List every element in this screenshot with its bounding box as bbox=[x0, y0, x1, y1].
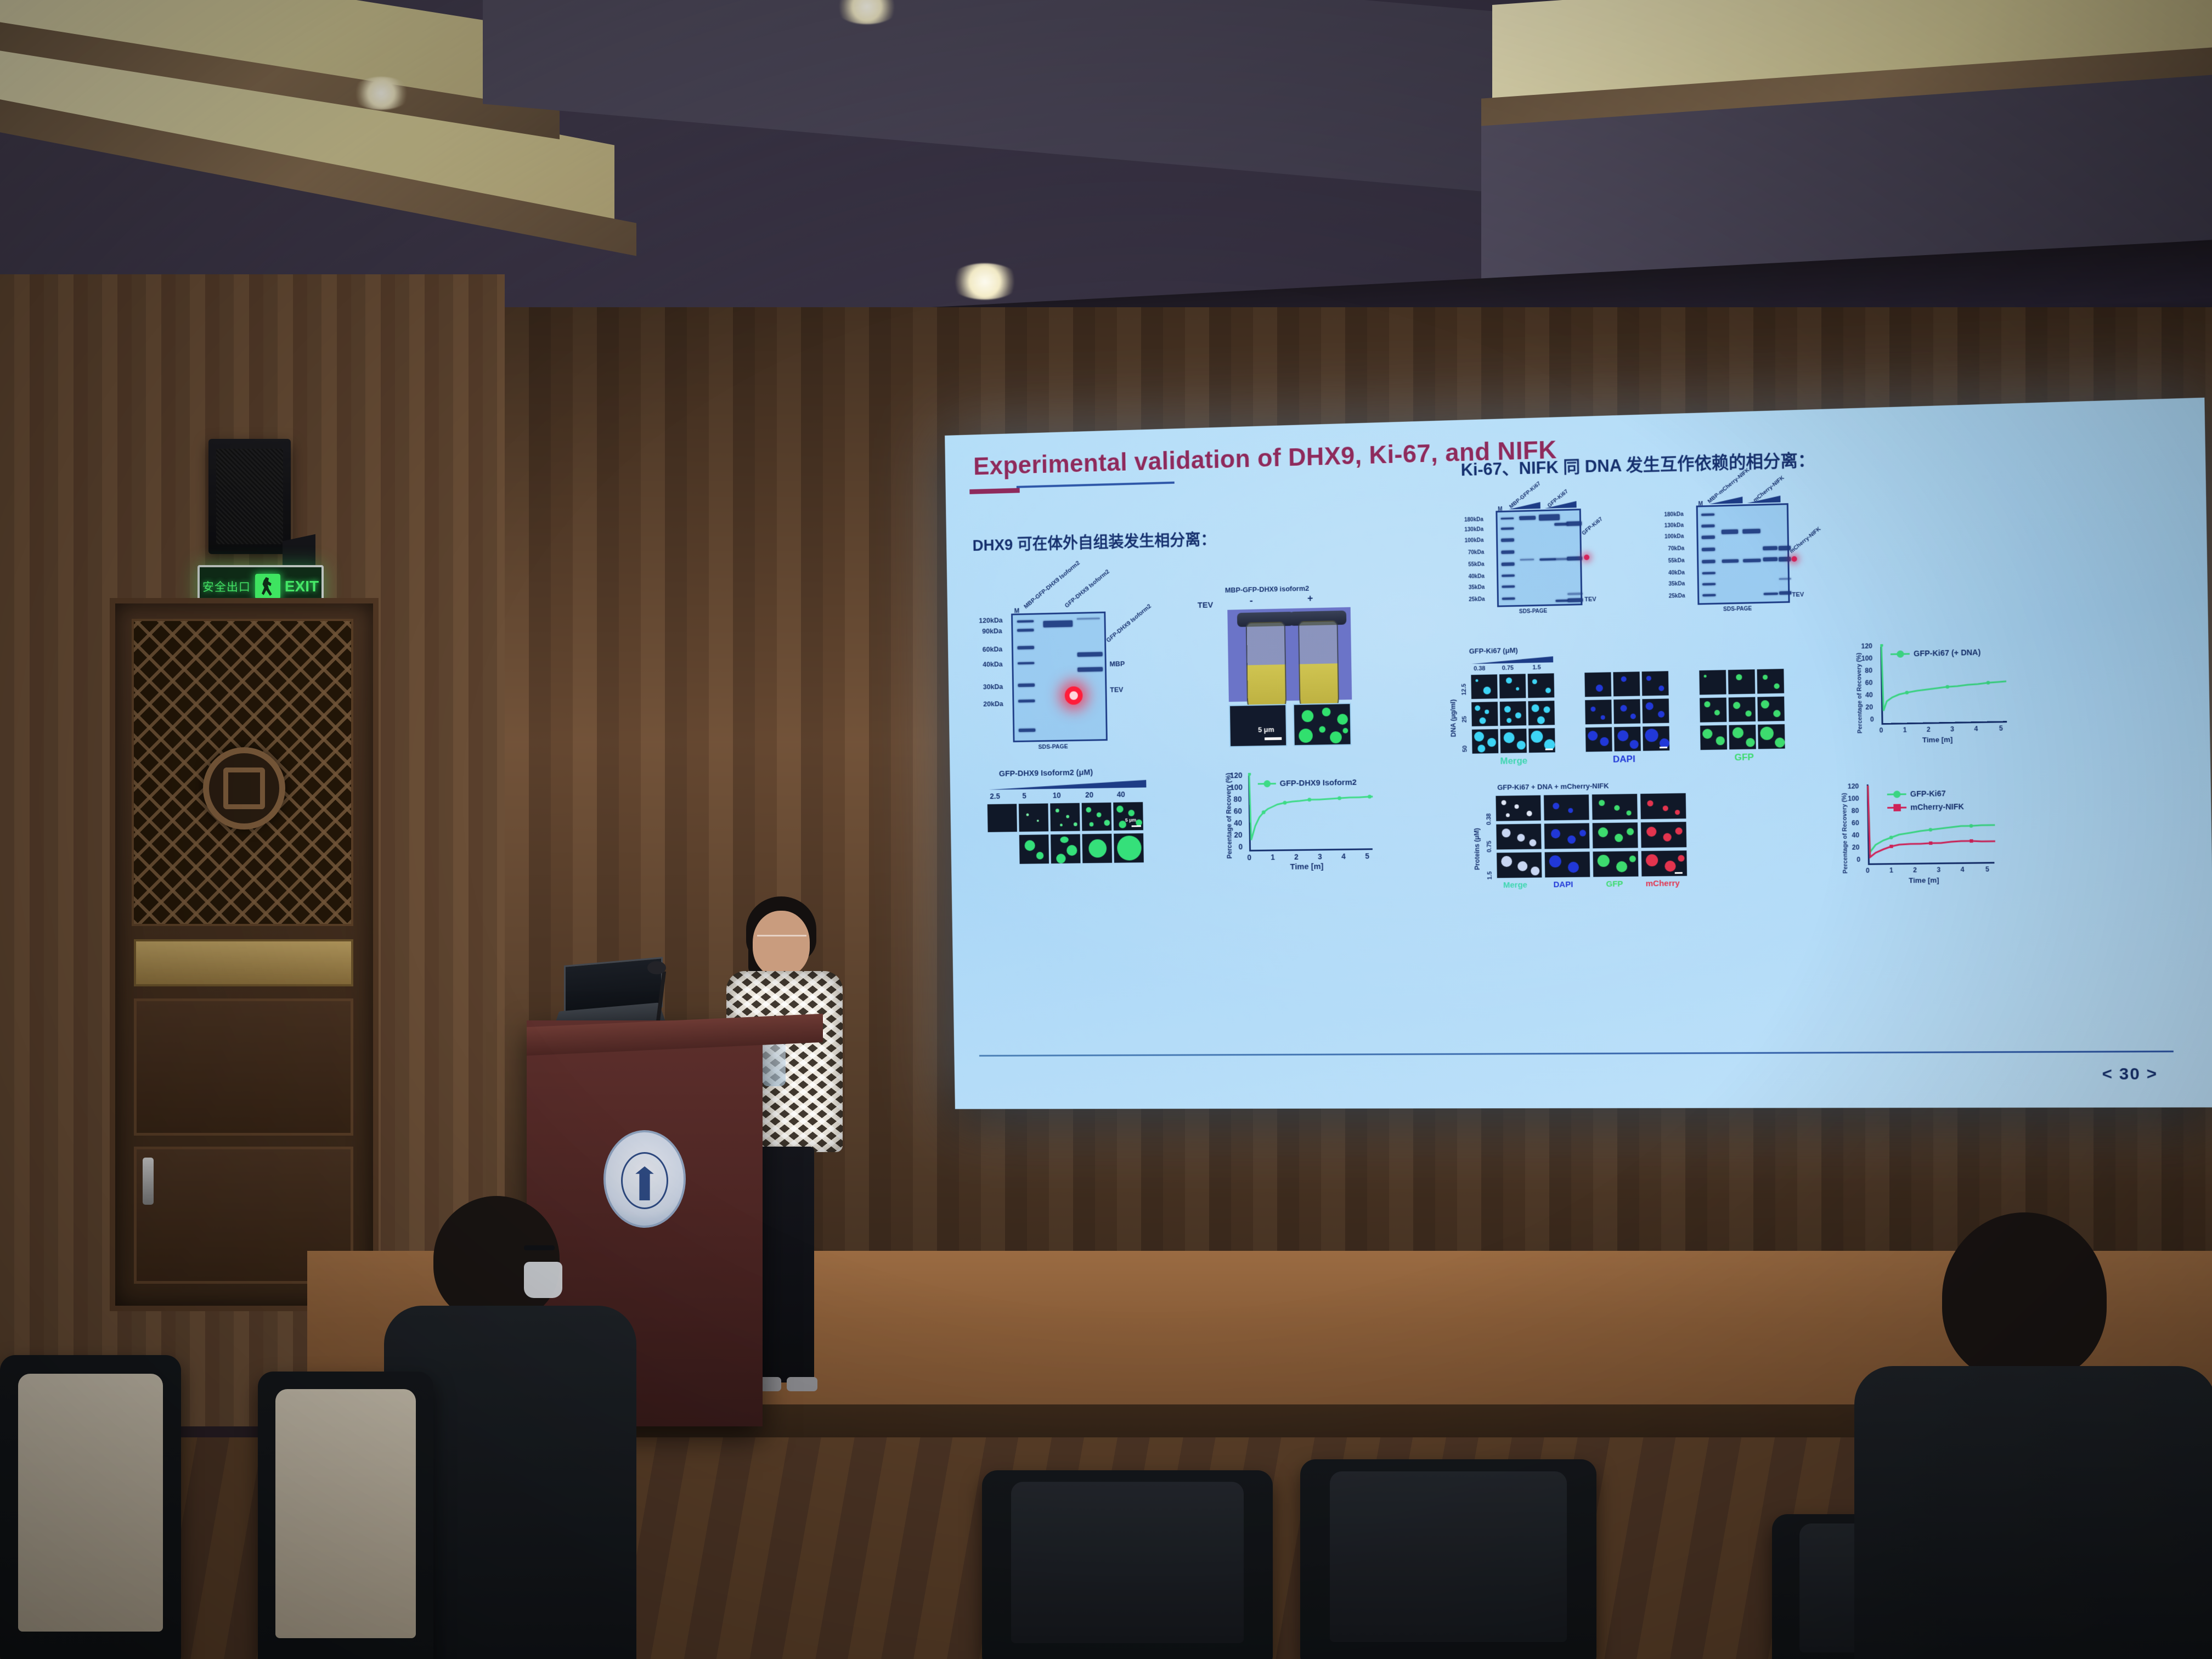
audience-face-mask bbox=[524, 1262, 562, 1298]
gel-nifk-ladder-180: 180kDa bbox=[1664, 511, 1683, 518]
frap-dhx9-ytick: 100 bbox=[1230, 783, 1243, 792]
grid-cell-dapi bbox=[1642, 726, 1670, 752]
legend-marker bbox=[1893, 804, 1901, 811]
grid-cell-gfp bbox=[1728, 669, 1756, 695]
droplet bbox=[1086, 807, 1091, 812]
gel-band bbox=[1502, 585, 1515, 588]
frap-ki67nifk-legend-gfp: GFP-Ki67 bbox=[1887, 789, 1946, 799]
frap-dhx9-ytick: 0 bbox=[1238, 842, 1243, 851]
scale-bar bbox=[1265, 737, 1282, 740]
ki67-grid-row-axis-label: DNA (μg/ml) bbox=[1449, 699, 1458, 737]
channel-label-gfp: GFP bbox=[1606, 879, 1623, 889]
grid-cell-gfp bbox=[1728, 697, 1756, 723]
droplet bbox=[1097, 812, 1102, 817]
gel-band bbox=[1763, 557, 1778, 562]
grid-cell-dapi bbox=[1641, 670, 1669, 696]
frap-ki67dna-xtick: 4 bbox=[1974, 725, 1978, 732]
frap-ki67dna-legend: GFP-Ki67 (+ DNA) bbox=[1891, 648, 1981, 659]
frap-dhx9-xtick: 5 bbox=[1365, 851, 1369, 860]
hall-door[interactable] bbox=[110, 598, 379, 1311]
frap-dhx9-xtick: 3 bbox=[1318, 852, 1322, 861]
gel-ki67-ladder-35: 35kDa bbox=[1469, 584, 1485, 591]
droplet bbox=[1090, 822, 1094, 827]
dhx9-conc-40: 40 bbox=[1117, 790, 1125, 799]
grid-cell-dapi bbox=[1585, 726, 1613, 752]
grid-cell-merge bbox=[1496, 823, 1542, 850]
grid-cell-mcherry bbox=[1641, 850, 1688, 877]
dhx9-series-title: GFP-DHX9 Isoform2 (μM) bbox=[999, 768, 1093, 778]
frap-dhx9-ytick: 60 bbox=[1234, 806, 1242, 815]
grid-cell-gfp bbox=[1728, 724, 1756, 750]
gel-band bbox=[1501, 527, 1514, 530]
droplet bbox=[1074, 822, 1077, 826]
gel-band bbox=[1502, 562, 1515, 566]
frap-ki67dna-ylabel: Percentage of Recovery (%) bbox=[1855, 653, 1864, 733]
gel-dhx9-right-label-2: MBP bbox=[1109, 659, 1125, 668]
door-panel-mid bbox=[134, 998, 353, 1136]
gel-nifk-ladder-130: 130kDa bbox=[1664, 522, 1684, 529]
grid-cell-merge bbox=[1499, 673, 1526, 699]
dhx9-conc-2p5: 2.5 bbox=[990, 792, 1000, 800]
gel-band bbox=[1567, 598, 1583, 602]
grid-cell-merge bbox=[1470, 674, 1498, 699]
gel-ki67-right-label-1: GFP-Ki67 bbox=[1581, 516, 1604, 537]
frap-ki67nifk-ytick: 120 bbox=[1848, 782, 1859, 790]
frap-ki67dna-series-name: GFP-Ki67 (+ DNA) bbox=[1914, 648, 1980, 658]
ki67-grid-col-0p75: 0.75 bbox=[1502, 665, 1514, 672]
nifk-grid-title: GFP-Ki67 + DNA + mCherry-NIFK bbox=[1497, 782, 1609, 792]
tube-panel: MBP-GFP-DHX9 isoform2 TEV - + 5 μm bbox=[1194, 573, 1378, 750]
grid-cell-merge bbox=[1471, 729, 1499, 754]
gel-ki67-ladder-25: 25kDa bbox=[1469, 596, 1485, 603]
frap-ki67dna-ytick: 120 bbox=[1861, 642, 1872, 650]
droplet bbox=[1299, 729, 1313, 743]
dhx9-series-cell bbox=[1018, 803, 1049, 832]
gel-ki67-ladder-180: 180kDa bbox=[1464, 517, 1483, 523]
frap-ki67dna-ytick: 80 bbox=[1865, 667, 1872, 674]
dhx9-series-cell bbox=[1049, 803, 1080, 832]
frap-ki67nifk-ytick: 80 bbox=[1852, 807, 1859, 815]
scale-bar bbox=[1660, 747, 1667, 748]
nifk-grid-row-0p75: 0.75 bbox=[1486, 840, 1493, 853]
droplet bbox=[1060, 823, 1063, 826]
door-medallion-ornament bbox=[203, 747, 285, 830]
audience-glasses bbox=[524, 1245, 555, 1250]
gel-dhx9-ladder-20: 20kDa bbox=[983, 699, 1003, 708]
legend-line bbox=[1891, 653, 1910, 655]
legend-marker bbox=[1897, 650, 1904, 657]
gel-nifk-panel: MBP-mCherry-NIFK mCherry-NIFK M 180kDa 1… bbox=[1663, 476, 1855, 624]
audience-chair-2[interactable] bbox=[0, 1355, 181, 1659]
gel-dhx9-ladder-60: 60kDa bbox=[983, 645, 1003, 653]
uv-tube-photo bbox=[1227, 607, 1352, 702]
gel-band bbox=[1566, 521, 1582, 526]
channel-label-merge: Merge bbox=[1500, 755, 1527, 767]
ki67-grid-row-25: 25 bbox=[1462, 716, 1468, 723]
frap-dhx9-ytick: 80 bbox=[1233, 795, 1242, 804]
grid-cell-mcherry bbox=[1640, 793, 1686, 820]
presenter-trousers bbox=[755, 1147, 814, 1383]
gel-band bbox=[1763, 546, 1778, 550]
frap-ki67nifk-xtick: 5 bbox=[1985, 865, 1989, 873]
presenter-head bbox=[753, 911, 810, 977]
droplet bbox=[1066, 815, 1069, 818]
chair-cushion bbox=[275, 1389, 416, 1638]
frap-ki67dna-xtick: 0 bbox=[1880, 726, 1883, 734]
gel-band bbox=[1701, 513, 1714, 516]
droplet bbox=[1337, 714, 1348, 725]
droplet bbox=[1330, 731, 1342, 743]
nifk-grid-row-axis-label: Proteins (μM) bbox=[1473, 828, 1481, 870]
audience-body-front-right bbox=[1854, 1366, 2212, 1659]
gel-band bbox=[1077, 618, 1100, 620]
ki67-grid-row-12p5: 12.5 bbox=[1461, 684, 1468, 696]
gel-band bbox=[1779, 578, 1791, 580]
gel-band bbox=[1539, 558, 1556, 561]
frap-ki67nifk-xtick: 4 bbox=[1961, 866, 1965, 873]
door-handle[interactable] bbox=[143, 1158, 154, 1205]
grid-cell-gfp bbox=[1699, 669, 1726, 695]
tube-condition-plus: + bbox=[1307, 592, 1313, 604]
frap-ki67nifk-ylabel: Percentage of Recovery (%) bbox=[1841, 793, 1849, 873]
gel-band bbox=[1017, 646, 1034, 650]
droplet bbox=[1104, 820, 1110, 826]
gel-dhx9-ladder-120: 120kDa bbox=[979, 616, 1003, 625]
ceiling-speaker bbox=[208, 439, 291, 554]
gel-band bbox=[1519, 516, 1536, 520]
gel-band bbox=[1501, 550, 1514, 554]
frap-ki67nifk-ytick: 60 bbox=[1852, 819, 1859, 827]
frap-dhx9-xtick: 1 bbox=[1271, 853, 1275, 861]
gel-band bbox=[1017, 629, 1034, 632]
frap-ki67dna-xtick: 1 bbox=[1903, 726, 1907, 733]
frap-chart-ki67-nifk: Percentage of Recovery (%) 120 100 80 60… bbox=[1835, 776, 2017, 889]
title-accent-rule-pink bbox=[969, 488, 1019, 494]
concentration-gradient-wedge bbox=[1471, 656, 1553, 664]
microphone-head bbox=[647, 961, 666, 974]
legend-line bbox=[1887, 806, 1906, 809]
gel-ki67-ladder-55: 55kDa bbox=[1468, 561, 1484, 568]
dhx9-conc-5: 5 bbox=[1022, 792, 1026, 800]
droplet bbox=[1342, 728, 1348, 733]
gel-nifk-ladder-25: 25kDa bbox=[1669, 593, 1685, 600]
lecture-hall-photo: 安全出口 EXIT Experimental validation of DHX… bbox=[0, 0, 2212, 1659]
gel-ki67-right-label-2: TEV bbox=[1584, 596, 1596, 603]
institution-emblem bbox=[603, 1130, 686, 1228]
gel-band bbox=[1567, 556, 1582, 561]
legend-line bbox=[1887, 793, 1906, 795]
droplet bbox=[1066, 845, 1077, 856]
section-heading-left: DHX9 可在体外自组装发生相分离： bbox=[972, 527, 1216, 555]
channel-label-gfp: GFP bbox=[1734, 752, 1754, 763]
laser-pointer-dot-small bbox=[1584, 555, 1589, 560]
grid-cell-mcherry bbox=[1640, 821, 1687, 848]
frap-dhx9-xtick: 4 bbox=[1341, 852, 1346, 861]
droplet bbox=[1037, 820, 1039, 822]
frap-ki67dna-ytick: 60 bbox=[1865, 679, 1873, 686]
tube-panel-row-label: TEV bbox=[1198, 601, 1214, 610]
gel-dhx9-ladder-90: 90kDa bbox=[982, 627, 1002, 635]
projection-screen: Experimental validation of DHX9, Ki-67, … bbox=[945, 398, 2212, 1109]
chair-cushion bbox=[1011, 1482, 1244, 1643]
gel-dhx9-caption: SDS-PAGE bbox=[1038, 743, 1068, 751]
scale-bar bbox=[1675, 872, 1683, 874]
frap-ki67nifk-series-name-2: mCherry-NIFK bbox=[1910, 802, 1964, 812]
gel-ki67-box bbox=[1496, 509, 1582, 607]
laser-pointer-dot-small bbox=[1791, 556, 1797, 562]
audience-head-front-right bbox=[1942, 1212, 2107, 1383]
grid-cell-gfp bbox=[1757, 696, 1785, 722]
gel-dhx9-ladder-40: 40kDa bbox=[983, 660, 1003, 668]
frap-chart-dhx9: Percentage of Recovery (%) 120 100 80 60… bbox=[1218, 763, 1386, 874]
grid-cell-dapi bbox=[1584, 672, 1612, 697]
dhx9-series-zoom-cell bbox=[1019, 834, 1049, 864]
frap-ki67dna-ytick: 0 bbox=[1870, 715, 1874, 723]
gel-band bbox=[1702, 560, 1715, 563]
frap-ki67nifk-ytick: 100 bbox=[1848, 794, 1859, 802]
gel-nifk-box bbox=[1696, 503, 1790, 605]
presenter-glasses bbox=[757, 935, 806, 943]
gel-ki67-ladder-70: 70kDa bbox=[1468, 550, 1484, 556]
gel-band bbox=[1722, 559, 1739, 563]
frap-ki67dna-xlabel: Time [m] bbox=[1922, 735, 1953, 744]
gel-band bbox=[1539, 514, 1560, 521]
droplet bbox=[1302, 710, 1314, 722]
ki67-grid-row-50: 50 bbox=[1462, 746, 1469, 752]
grid-cell-merge bbox=[1500, 728, 1527, 754]
tube-panel-title: MBP-GFP-DHX9 isoform2 bbox=[1225, 584, 1310, 594]
dhx9-series-cell bbox=[987, 803, 1018, 832]
gel-band bbox=[1701, 524, 1714, 528]
grid-cell-gfp bbox=[1699, 697, 1727, 723]
chair-cushion bbox=[1330, 1471, 1567, 1642]
gel-dhx9-right-label-1: GFP-DHX9 Isoform2 bbox=[1105, 603, 1153, 644]
gel-nifk-right-label-1: mCherry-NIFK bbox=[1788, 526, 1822, 555]
gel-nifk-ladder-35: 35kDa bbox=[1668, 581, 1685, 588]
grid-cell-dapi bbox=[1613, 698, 1641, 724]
grid-cell-gfp bbox=[1593, 850, 1639, 877]
gel-band bbox=[1077, 652, 1103, 657]
gel-dhx9-right-label-3: TEV bbox=[1110, 685, 1124, 693]
droplet bbox=[1128, 810, 1135, 816]
gel-ki67-panel: MBP-GFP-Ki67 GFP-Ki67 M 180kDa 130kDa 10… bbox=[1464, 482, 1646, 629]
droplet bbox=[1026, 814, 1029, 816]
frap-ki67nifk-ytick: 20 bbox=[1852, 843, 1860, 851]
gel-band bbox=[1743, 558, 1761, 562]
door-kick-plate bbox=[134, 939, 353, 986]
tube-condition-minus: - bbox=[1250, 595, 1253, 607]
ki67-dna-microscopy-grid: GFP-Ki67 (μM) 0.38 0.75 1.5 DNA (μg/ml) … bbox=[1447, 640, 1841, 774]
dhx9-concentration-series: GFP-DHX9 Isoform2 (μM) 2.5 5 10 20 40 bbox=[981, 766, 1214, 877]
frap-ki67dna-ytick: 20 bbox=[1865, 703, 1873, 711]
audience-chair-3[interactable] bbox=[982, 1470, 1273, 1659]
frap-ki67nifk-xtick: 1 bbox=[1889, 866, 1893, 874]
gel-dhx9-panel: MBP-GFP-DHX9 Isoform2 GFP-DHX9 Isoform2 … bbox=[978, 572, 1181, 754]
dhx9-conc-10: 10 bbox=[1053, 791, 1061, 800]
slide-footer-rule bbox=[979, 1051, 2174, 1057]
frap-ki67dna-xtick: 3 bbox=[1950, 725, 1954, 733]
frap-ki67dna-ytick: 100 bbox=[1861, 654, 1873, 663]
dhx9-series-zoom-cell bbox=[1113, 833, 1144, 864]
gel-band bbox=[1043, 620, 1073, 628]
grid-cell-dapi bbox=[1544, 851, 1591, 878]
gel-band bbox=[1567, 592, 1583, 595]
frap-dhx9-xlabel: Time [m] bbox=[1290, 862, 1323, 872]
frap-dhx9-legend: GFP-DHX9 Isoform2 bbox=[1258, 778, 1357, 789]
scale-bar bbox=[1545, 748, 1553, 750]
frap-ki67nifk-xtick: 0 bbox=[1866, 867, 1870, 874]
scale-bar bbox=[1132, 825, 1141, 827]
frap-ki67nifk-ytick: 0 bbox=[1857, 856, 1860, 864]
legend-marker bbox=[1893, 791, 1901, 798]
gel-ki67-caption: SDS-PAGE bbox=[1519, 608, 1547, 615]
droplet bbox=[1117, 836, 1142, 861]
frap-dhx9-ytick: 20 bbox=[1234, 831, 1242, 839]
presentation-slide: Experimental validation of DHX9, Ki-67, … bbox=[966, 413, 2192, 1096]
droplet-image-minus-tev: 5 μm bbox=[1229, 704, 1287, 747]
gel-nifk-right-label-2: TEV bbox=[1792, 591, 1804, 599]
frap-dhx9-series-name: GFP-DHX9 Isoform2 bbox=[1280, 778, 1357, 788]
running-person-exit-icon bbox=[255, 574, 280, 599]
gel-band bbox=[1019, 729, 1036, 732]
droplet bbox=[1116, 805, 1124, 812]
gel-dhx9-lane-label-2: GFP-DHX9 Isoform2 bbox=[1064, 568, 1111, 609]
grid-cell-merge bbox=[1527, 673, 1555, 698]
gel-band bbox=[1702, 535, 1715, 539]
channel-label-mcherry: mCherry bbox=[1646, 879, 1680, 889]
grid-cell-merge bbox=[1499, 701, 1527, 726]
gel-band bbox=[1018, 684, 1035, 687]
droplet bbox=[1322, 708, 1331, 716]
grid-cell-dapi bbox=[1641, 698, 1669, 724]
slide-page-number: < 30 > bbox=[2102, 1065, 2158, 1084]
grid-cell-dapi bbox=[1544, 822, 1590, 849]
gel-dhx9-box bbox=[1011, 612, 1108, 742]
grid-cell-gfp bbox=[1700, 725, 1728, 751]
gel-band bbox=[1502, 574, 1515, 577]
dhx9-series-cell: 5 μm bbox=[1113, 802, 1144, 831]
audience-head-front-left bbox=[433, 1196, 560, 1322]
gel-nifk-ladder-70: 70kDa bbox=[1668, 546, 1684, 552]
gel-ki67-ladder-100: 100kDa bbox=[1465, 538, 1484, 544]
gel-band bbox=[1702, 594, 1716, 597]
legend-marker bbox=[1263, 780, 1271, 787]
droplet bbox=[1036, 852, 1044, 860]
gel-band bbox=[1018, 662, 1035, 665]
grid-cell-dapi bbox=[1612, 671, 1640, 697]
grid-cell-dapi bbox=[1543, 794, 1590, 821]
channel-label-dapi: DAPI bbox=[1553, 880, 1573, 889]
droplet bbox=[1056, 809, 1059, 812]
frap-ki67nifk-ytick: 40 bbox=[1852, 831, 1859, 839]
grid-cell-merge bbox=[1471, 701, 1498, 727]
grid-cell-merge bbox=[1527, 700, 1555, 726]
ki67-nifk-microscopy-grid: GFP-Ki67 + DNA + mCherry-NIFK Proteins (… bbox=[1471, 778, 1815, 904]
gel-band bbox=[1018, 699, 1035, 702]
dhx9-conc-20: 20 bbox=[1085, 791, 1093, 799]
gel-band bbox=[1779, 557, 1791, 562]
gel-band bbox=[1501, 538, 1514, 542]
scale-bar-label: 5 μm bbox=[1125, 817, 1136, 823]
frap-ki67nifk-xtick: 2 bbox=[1913, 866, 1917, 874]
frap-ki67dna-xtick: 2 bbox=[1927, 726, 1931, 733]
frap-dhx9-xtick: 2 bbox=[1294, 853, 1299, 861]
gel-nifk-ladder-55: 55kDa bbox=[1668, 558, 1685, 565]
frap-ki67nifk-series-name-1: GFP-Ki67 bbox=[1910, 789, 1946, 798]
gel-band bbox=[1702, 548, 1715, 551]
exit-sign-label-cn: 安全出口 bbox=[202, 578, 251, 595]
channel-label-merge: Merge bbox=[1503, 881, 1527, 890]
gel-band bbox=[1764, 592, 1778, 595]
gel-band bbox=[1500, 517, 1514, 520]
frap-ki67dna-ytick: 40 bbox=[1865, 691, 1873, 699]
downlight-2 bbox=[351, 77, 411, 110]
dhx9-series-cell bbox=[1081, 802, 1112, 832]
frap-dhx9-ytick: 40 bbox=[1234, 819, 1242, 827]
gel-band bbox=[1702, 583, 1716, 586]
frap-ki67nifk-legend-mcherry: mCherry-NIFK bbox=[1887, 802, 1964, 812]
channel-label-dapi: DAPI bbox=[1613, 754, 1635, 765]
nifk-grid-row-0p38: 0.38 bbox=[1486, 813, 1492, 825]
ki67-grid-title: GFP-Ki67 (μM) bbox=[1469, 646, 1518, 656]
audience-chair-1[interactable] bbox=[258, 1372, 433, 1659]
legend-line bbox=[1258, 783, 1276, 785]
grid-cell-merge bbox=[1496, 851, 1542, 878]
gel-nifk-ladder-40: 40kDa bbox=[1668, 570, 1685, 577]
grid-cell-merge bbox=[1528, 727, 1556, 753]
grid-cell-gfp bbox=[1757, 724, 1786, 749]
grid-cell-merge bbox=[1496, 795, 1542, 822]
droplet-image-plus-tev bbox=[1293, 703, 1352, 746]
scale-bar-label: 5 μm bbox=[1258, 725, 1274, 733]
gel-band bbox=[1502, 597, 1515, 600]
title-accent-rule-blue bbox=[1017, 482, 1175, 488]
gel-nifk-ladder-100: 100kDa bbox=[1664, 533, 1684, 540]
dhx9-series-zoom-cell bbox=[1082, 833, 1113, 864]
droplet bbox=[1319, 726, 1325, 733]
audience-chair-4[interactable] bbox=[1300, 1459, 1596, 1659]
downlight-3 bbox=[949, 263, 1020, 300]
frap-ki67dna-xtick: 5 bbox=[1999, 724, 2003, 732]
gel-band bbox=[1520, 558, 1534, 561]
gel-band bbox=[1555, 558, 1568, 561]
gel-band bbox=[1702, 572, 1716, 574]
droplet bbox=[1024, 840, 1035, 851]
concentration-gradient-wedge bbox=[989, 780, 1146, 790]
gel-band bbox=[1077, 667, 1103, 672]
nifk-grid-row-1p5: 1.5 bbox=[1487, 871, 1493, 879]
gel-band bbox=[1722, 529, 1738, 534]
gel-band bbox=[1779, 591, 1791, 595]
gel-ki67-ladder-40: 40kDa bbox=[1469, 573, 1485, 580]
exit-sign-label-en: EXIT bbox=[285, 578, 319, 595]
gel-band bbox=[1742, 529, 1760, 534]
chair-cushion bbox=[18, 1374, 163, 1632]
frap-ki67nifk-xlabel: Time [m] bbox=[1909, 876, 1939, 885]
grid-cell-dapi bbox=[1584, 699, 1612, 725]
gel-band bbox=[1017, 620, 1034, 623]
gel-ki67-ladder-130: 130kDa bbox=[1464, 527, 1483, 533]
gel-dhx9-ladder-30: 30kDa bbox=[983, 682, 1003, 691]
grid-cell-dapi bbox=[1613, 726, 1641, 752]
grid-cell-gfp bbox=[1592, 793, 1638, 820]
droplet bbox=[1088, 839, 1107, 858]
frap-chart-ki67-dna: Percentage of Recovery (%) 120 100 80 60… bbox=[1850, 635, 2021, 749]
frap-dhx9-xtick: 0 bbox=[1247, 853, 1251, 862]
grid-cell-gfp bbox=[1757, 668, 1785, 694]
droplet bbox=[1060, 837, 1068, 843]
grid-cell-gfp bbox=[1592, 822, 1639, 849]
